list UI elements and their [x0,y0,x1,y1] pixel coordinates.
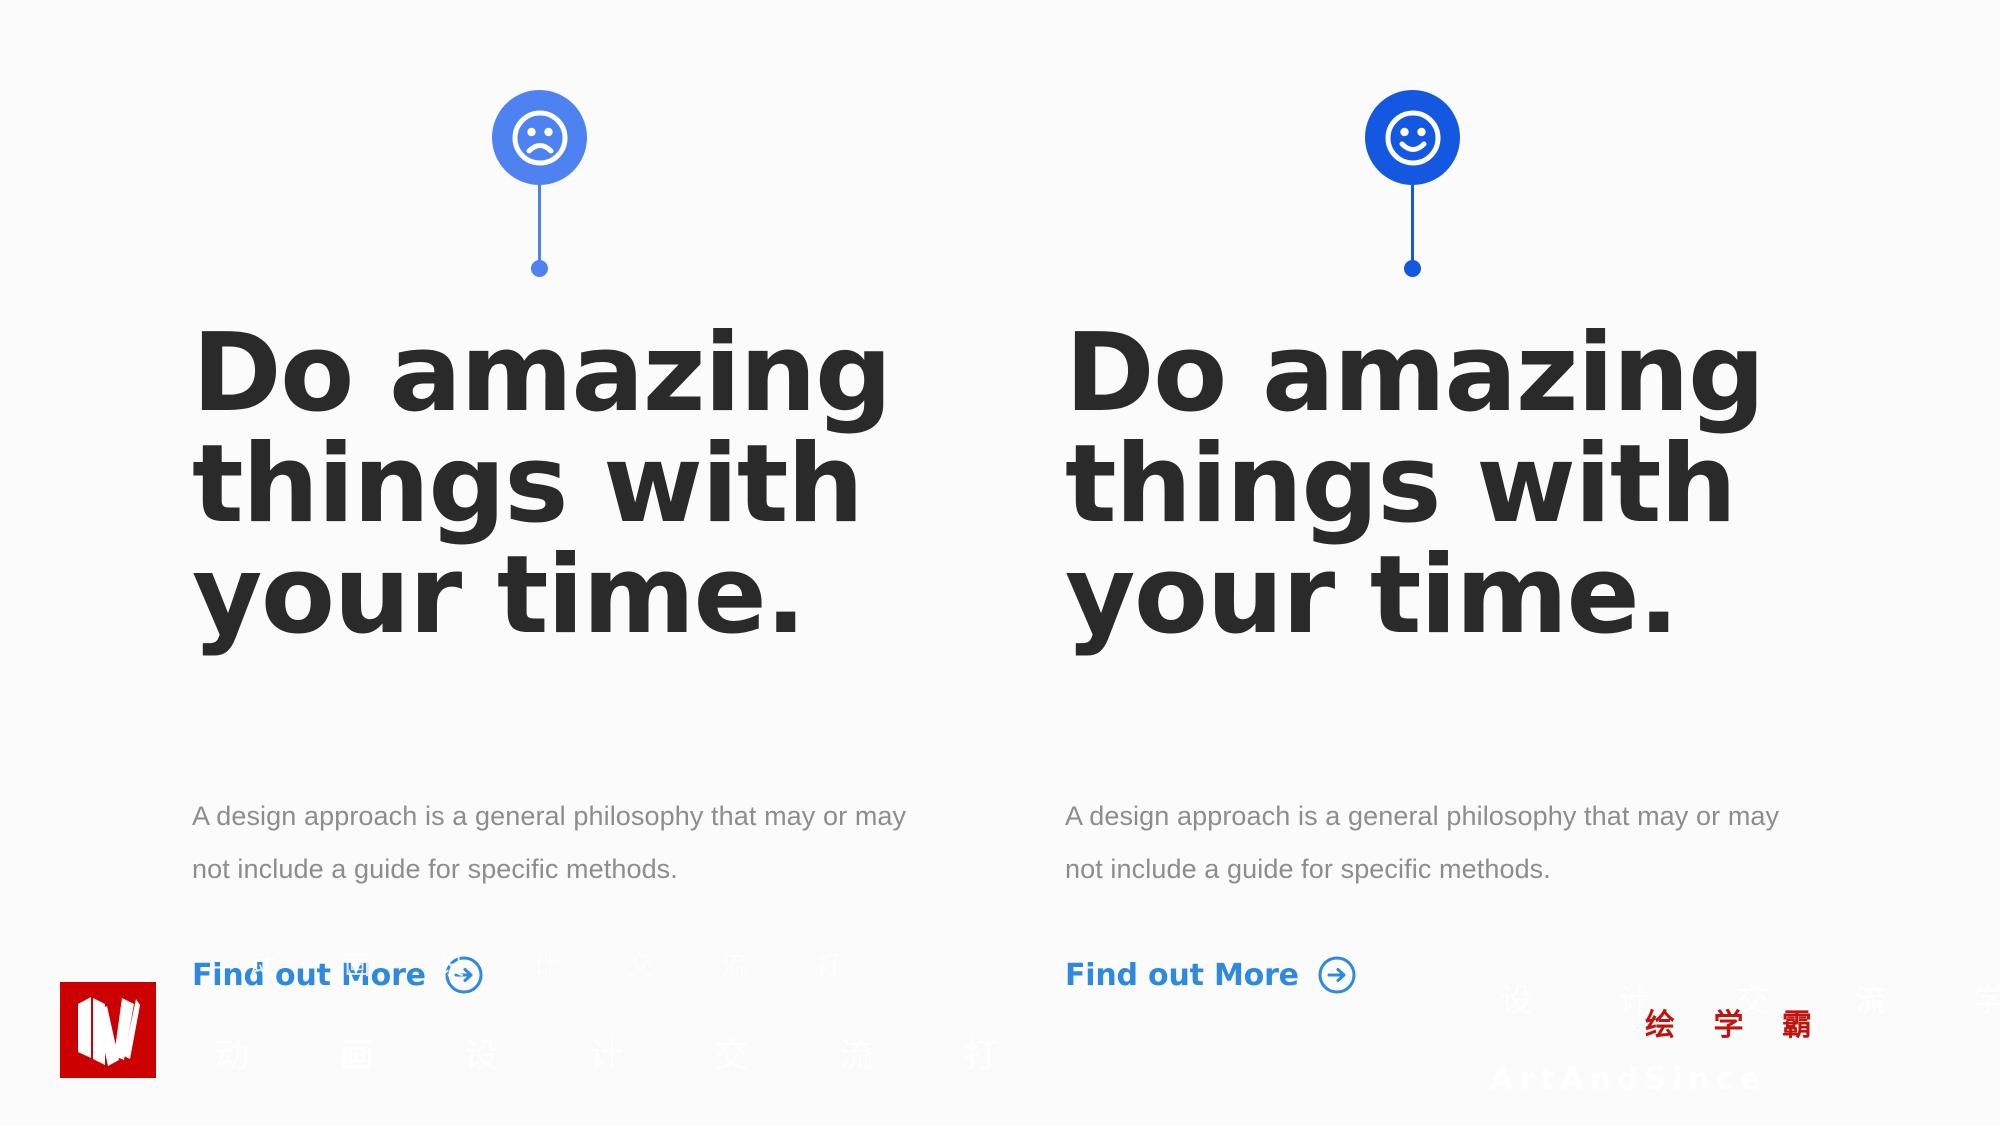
find-out-more-link-left[interactable]: Find out More [192,955,484,995]
watermark-logo [60,982,156,1078]
sad-face-icon [509,107,571,169]
page-root: Do amazing things with your time. A desi… [0,0,2000,1125]
marker-stem-left [538,185,541,267]
find-out-more-link-right[interactable]: Find out More [1065,955,1357,995]
feature-column-right: Do amazing things with your time. A desi… [1065,0,1845,1125]
arrow-right-circle-icon[interactable] [444,955,484,995]
marker-dot-left [531,260,548,277]
find-out-more-label: Find out More [1065,958,1299,993]
w-logo-icon [60,982,156,1078]
marker-left [492,90,602,290]
watermark-brand-cn: 绘 学 霸 [1645,1000,1826,1044]
find-out-more-label: Find out More [192,958,426,993]
page-title: Do amazing things with your time. [1065,318,1825,652]
marker-stem-right [1411,185,1414,267]
marker-right [1365,90,1475,290]
marker-circle-right[interactable] [1365,90,1460,185]
arrow-right-circle-icon[interactable] [1317,955,1357,995]
body-paragraph: A design approach is a general philosoph… [192,790,932,896]
smiley-face-icon [1382,107,1444,169]
marker-dot-right [1404,260,1421,277]
page-title: Do amazing things with your time. [192,318,952,652]
feature-column-left: Do amazing things with your time. A desi… [192,0,972,1125]
marker-circle-left[interactable] [492,90,587,185]
body-paragraph: A design approach is a general philosoph… [1065,790,1805,896]
